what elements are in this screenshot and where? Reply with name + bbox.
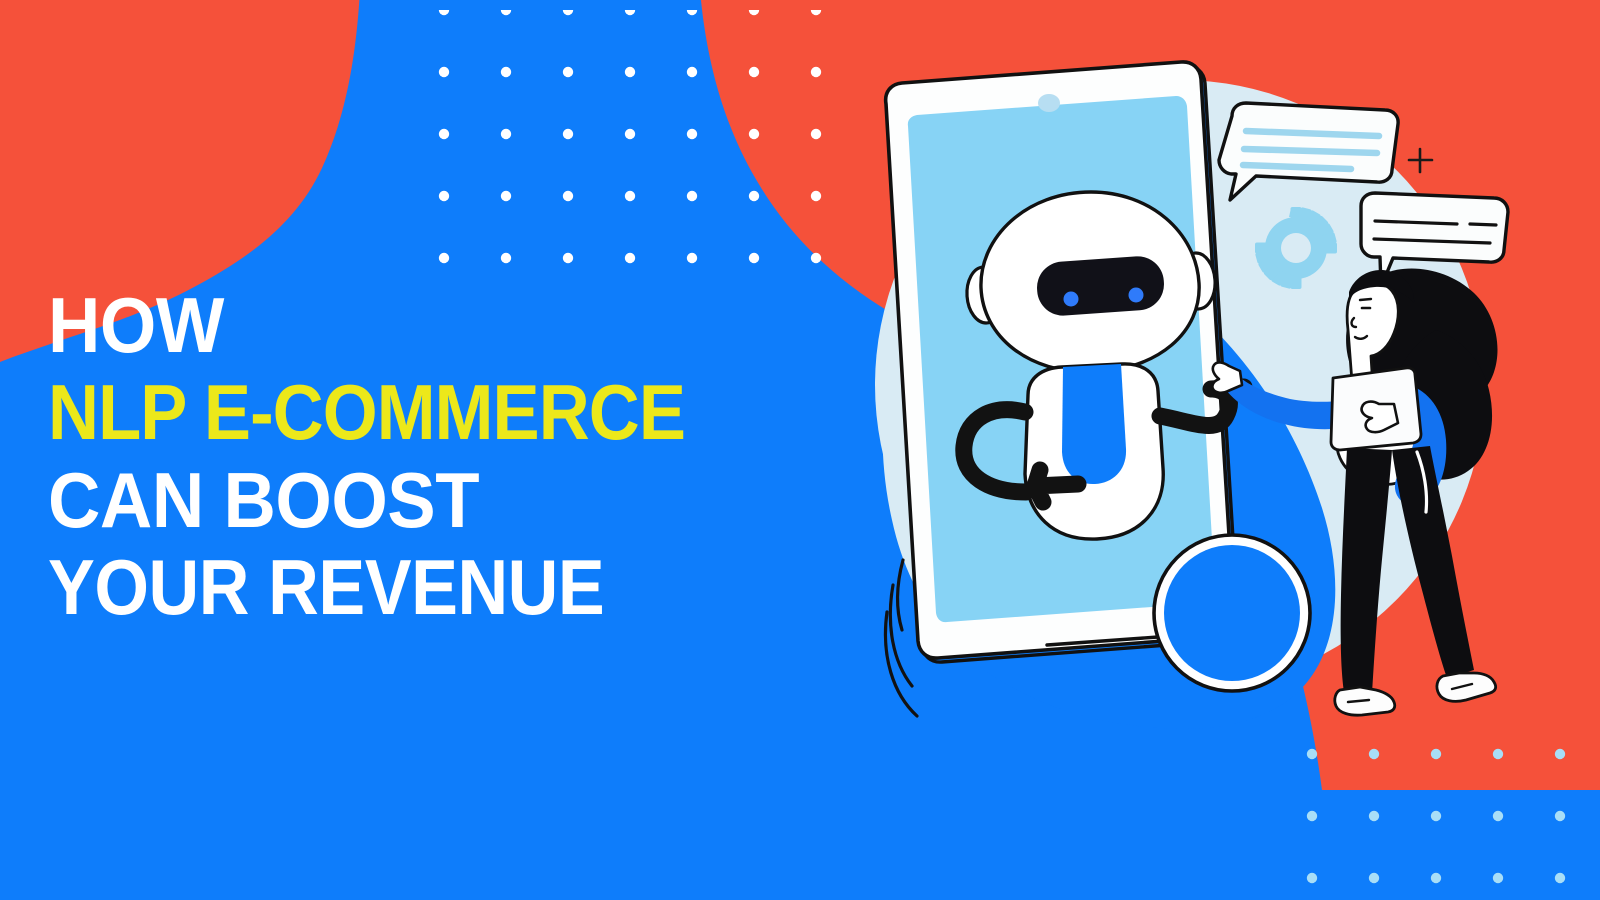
phone-camera-dot bbox=[1038, 94, 1060, 112]
robot-chest-stripe bbox=[1062, 364, 1126, 484]
robot-visor bbox=[1035, 255, 1165, 318]
headline-line-1: HOW bbox=[48, 282, 820, 369]
robot-eye-right bbox=[1129, 288, 1144, 303]
headline-line-2-highlight: NLP E-COMMERCE bbox=[48, 369, 799, 456]
robot-eye-left bbox=[1064, 292, 1079, 307]
white-dot-grid-top bbox=[430, 10, 830, 290]
headline-block: HOW NLP E-COMMERCE CAN BOOST YOUR REVENU… bbox=[48, 282, 878, 631]
blue-circle-button bbox=[1154, 535, 1310, 691]
headline-line-4: YOUR REVENUE bbox=[48, 544, 795, 631]
banner-canvas: HOW NLP E-COMMERCE CAN BOOST YOUR REVENU… bbox=[0, 0, 1600, 900]
woman-brow bbox=[1360, 299, 1371, 300]
light-blue-dot-grid-bottom-right bbox=[1265, 700, 1595, 900]
headline-line-3: CAN BOOST bbox=[48, 457, 820, 544]
